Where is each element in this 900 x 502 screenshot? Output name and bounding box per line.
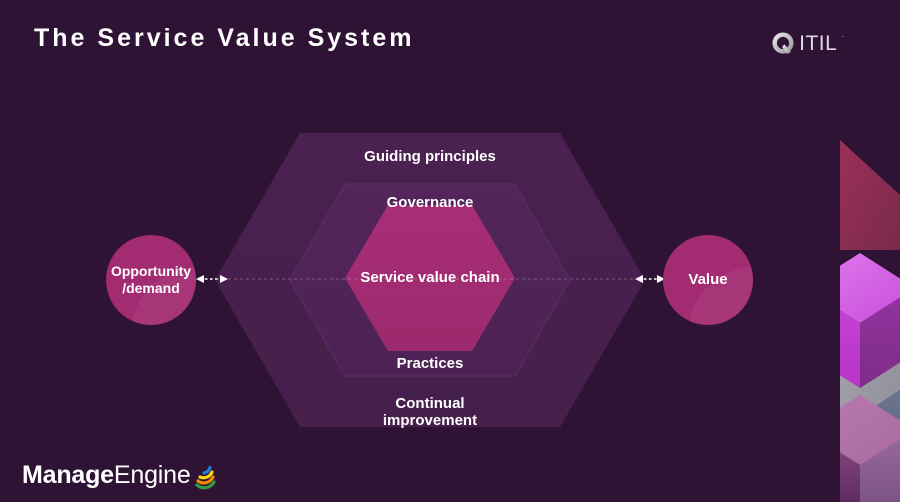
label-continual-improvement: Continual improvement	[280, 395, 580, 430]
manageengine-swoosh-icon	[192, 464, 218, 490]
label-governance: Governance	[280, 194, 580, 211]
service-value-system-diagram: Opportunity /demand Value Guiding princi…	[0, 0, 900, 502]
label-service-value-chain: Service value chain	[280, 269, 580, 286]
node-opportunity-line1: Opportunity	[111, 263, 191, 279]
label-guiding-principles: Guiding principles	[280, 148, 580, 165]
slide-canvas: The Service Value System ITIL ·	[0, 0, 900, 502]
node-opportunity-demand-label: Opportunity /demand	[111, 263, 191, 296]
node-opportunity-demand[interactable]: Opportunity /demand	[106, 235, 196, 325]
node-value[interactable]: Value	[663, 235, 753, 325]
manageengine-light-text: Engine	[114, 463, 191, 488]
node-opportunity-line2: /demand	[122, 280, 180, 296]
node-value-label: Value	[688, 271, 727, 289]
manageengine-logo: Manage Engine	[22, 463, 218, 488]
manageengine-bold-text: Manage	[22, 463, 114, 488]
label-practices: Practices	[280, 355, 580, 372]
